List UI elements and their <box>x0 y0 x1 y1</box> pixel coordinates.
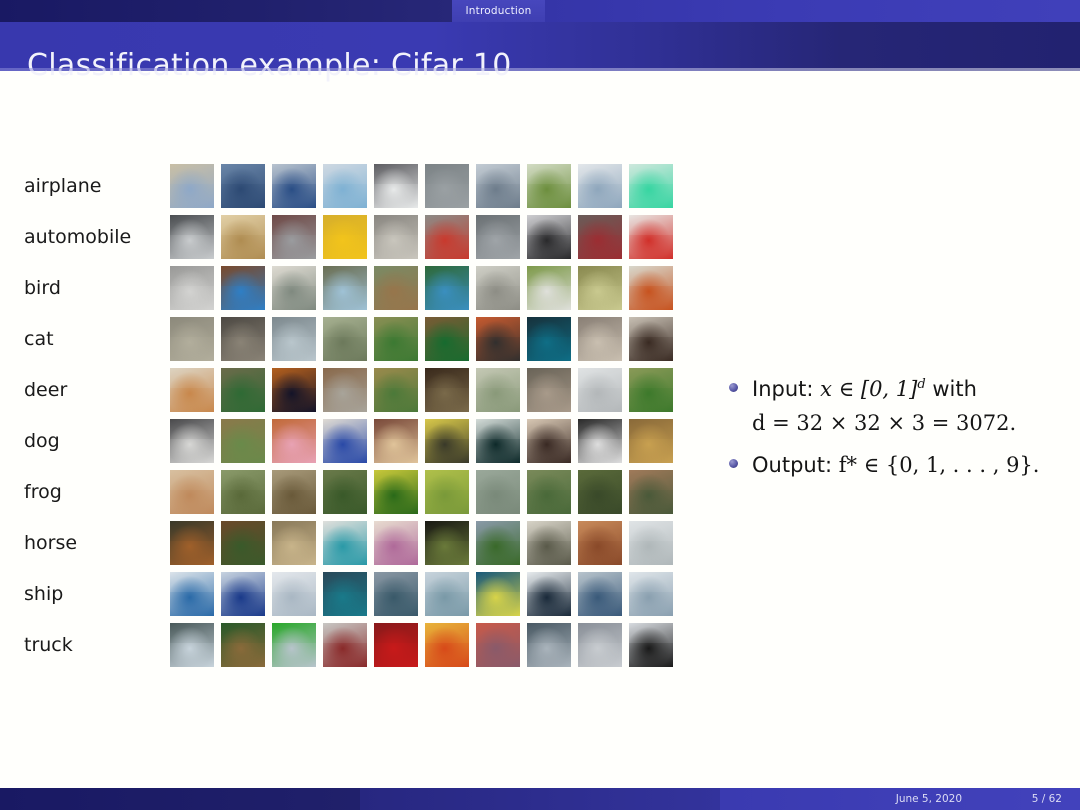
footer-segment-left <box>0 788 360 810</box>
class-label: automobile <box>24 226 131 248</box>
bullet-second-line: d = 32 × 32 × 3 = 3072. <box>752 408 1066 438</box>
sample-thumbnail <box>578 317 622 361</box>
sample-thumbnail <box>272 368 316 412</box>
sample-thumbnail <box>374 215 418 259</box>
sample-thumbnail <box>170 266 214 310</box>
sample-thumbnail <box>170 623 214 667</box>
sample-thumbnail <box>170 215 214 259</box>
footer-page-number: 5 / 62 <box>1032 793 1062 805</box>
sample-thumbnail <box>425 215 469 259</box>
sample-thumbnail <box>527 623 571 667</box>
sample-thumbnail <box>170 572 214 616</box>
sample-thumbnail <box>221 419 265 463</box>
grid-row: cat <box>0 313 700 364</box>
thumbnail-strip <box>170 317 673 361</box>
sample-thumbnail <box>170 419 214 463</box>
sample-thumbnail <box>272 572 316 616</box>
sample-thumbnail <box>578 623 622 667</box>
sample-thumbnail <box>374 419 418 463</box>
sample-thumbnail <box>527 419 571 463</box>
thumbnail-strip <box>170 164 673 208</box>
sample-thumbnail <box>527 164 571 208</box>
sample-thumbnail <box>272 215 316 259</box>
thumbnail-strip <box>170 521 673 565</box>
sample-thumbnail <box>425 164 469 208</box>
sample-thumbnail <box>629 521 673 565</box>
sample-thumbnail <box>323 266 367 310</box>
bullet-list: Input: x ∈ [0, 1]d with d = 32 × 32 × 3 … <box>726 374 1066 491</box>
class-label: bird <box>24 277 61 299</box>
sample-thumbnail <box>476 521 520 565</box>
sample-thumbnail <box>323 470 367 514</box>
sample-thumbnail <box>629 572 673 616</box>
sample-thumbnail <box>476 317 520 361</box>
class-label: deer <box>24 379 67 401</box>
thumbnail-strip <box>170 623 673 667</box>
sample-thumbnail <box>629 317 673 361</box>
sample-thumbnail <box>374 368 418 412</box>
bullet-math: f* ∈ {0, 1, . . . , 9}. <box>839 453 1040 477</box>
class-label: cat <box>24 328 54 350</box>
class-label: airplane <box>24 175 101 197</box>
sample-thumbnail <box>578 164 622 208</box>
sample-thumbnail <box>527 215 571 259</box>
footer-bar: June 5, 2020 5 / 62 <box>0 788 1080 810</box>
sample-thumbnail <box>323 521 367 565</box>
bullet-text: Output: f* ∈ {0, 1, . . . , 9}. <box>752 453 1039 477</box>
sample-thumbnail <box>374 572 418 616</box>
sample-thumbnail <box>323 164 367 208</box>
sample-thumbnail <box>170 470 214 514</box>
sample-thumbnail <box>425 623 469 667</box>
sample-thumbnail <box>272 623 316 667</box>
sample-thumbnail <box>221 368 265 412</box>
sample-thumbnail <box>374 266 418 310</box>
sample-thumbnail <box>527 317 571 361</box>
thumbnail-strip <box>170 470 673 514</box>
sample-thumbnail <box>323 368 367 412</box>
sample-thumbnail <box>578 215 622 259</box>
sample-thumbnail <box>629 164 673 208</box>
sample-thumbnail <box>374 470 418 514</box>
sample-thumbnail <box>170 521 214 565</box>
sample-thumbnail <box>629 623 673 667</box>
bullet-text: Input: x ∈ [0, 1]d with d = 32 × 32 × 3 … <box>752 377 1066 439</box>
grid-row: frog <box>0 466 700 517</box>
bullet-dot-icon <box>729 459 738 468</box>
sample-thumbnail <box>425 419 469 463</box>
bullet-label: Output: <box>752 453 832 477</box>
bullet-exponent: d <box>917 377 925 392</box>
class-label: truck <box>24 634 73 656</box>
sample-thumbnail <box>578 521 622 565</box>
sample-thumbnail <box>272 521 316 565</box>
thumbnail-strip <box>170 266 673 310</box>
slide-title-bar: Classification example: Cifar 10 <box>0 22 1080 71</box>
sample-thumbnail <box>374 164 418 208</box>
sample-thumbnail <box>272 419 316 463</box>
bullet-label: Input: <box>752 377 813 401</box>
sample-thumbnail <box>221 623 265 667</box>
nav-section-label: Introduction <box>466 5 532 17</box>
sample-thumbnail <box>629 368 673 412</box>
grid-row: dog <box>0 415 700 466</box>
grid-row: deer <box>0 364 700 415</box>
sample-thumbnail <box>374 623 418 667</box>
sample-thumbnail <box>221 317 265 361</box>
class-label: dog <box>24 430 60 452</box>
sample-thumbnail <box>527 521 571 565</box>
class-label: ship <box>24 583 63 605</box>
nav-segment-right <box>545 0 1080 22</box>
grid-row: airplane <box>0 160 700 211</box>
sample-thumbnail <box>170 317 214 361</box>
bullet-trailing: with <box>932 377 977 401</box>
sample-thumbnail <box>629 266 673 310</box>
sample-thumbnail <box>425 266 469 310</box>
nav-section-introduction[interactable]: Introduction <box>452 0 545 22</box>
sample-thumbnail <box>374 521 418 565</box>
sample-thumbnail <box>578 266 622 310</box>
sample-thumbnail <box>323 317 367 361</box>
class-label: horse <box>24 532 77 554</box>
sample-thumbnail <box>221 215 265 259</box>
thumbnail-strip <box>170 368 673 412</box>
sample-thumbnail <box>272 317 316 361</box>
sample-thumbnail <box>578 470 622 514</box>
sample-thumbnail <box>272 164 316 208</box>
sample-thumbnail <box>323 215 367 259</box>
sample-thumbnail <box>476 470 520 514</box>
sample-thumbnail <box>476 623 520 667</box>
sample-thumbnail <box>221 470 265 514</box>
sample-thumbnail <box>425 521 469 565</box>
grid-row: bird <box>0 262 700 313</box>
sample-thumbnail <box>629 419 673 463</box>
grid-row: truck <box>0 619 700 670</box>
sample-thumbnail <box>221 266 265 310</box>
sample-thumbnail <box>476 266 520 310</box>
sample-thumbnail <box>527 572 571 616</box>
sample-thumbnail <box>629 215 673 259</box>
sample-thumbnail <box>476 368 520 412</box>
sample-thumbnail <box>323 419 367 463</box>
grid-row: horse <box>0 517 700 568</box>
page-title: Classification example: Cifar 10 <box>27 48 512 83</box>
sample-thumbnail <box>527 470 571 514</box>
grid-row: automobile <box>0 211 700 262</box>
sample-thumbnail <box>425 368 469 412</box>
thumbnail-strip <box>170 572 673 616</box>
sample-thumbnail <box>578 368 622 412</box>
sample-thumbnail <box>425 317 469 361</box>
sample-thumbnail <box>476 215 520 259</box>
sample-thumbnail <box>425 470 469 514</box>
bullet-math: x ∈ [0, 1] <box>820 377 917 401</box>
sample-thumbnail <box>323 623 367 667</box>
sample-thumbnail <box>221 521 265 565</box>
thumbnail-strip <box>170 215 673 259</box>
sample-thumbnail <box>578 419 622 463</box>
sample-thumbnail <box>323 572 367 616</box>
sample-thumbnail <box>374 317 418 361</box>
navigation-bar: Introduction <box>0 0 1080 22</box>
sample-thumbnail <box>170 164 214 208</box>
cifar10-grid: airplaneautomobilebirdcatdeerdogfroghors… <box>0 160 700 680</box>
footer-date: June 5, 2020 <box>896 793 962 805</box>
thumbnail-strip <box>170 419 673 463</box>
sample-thumbnail <box>476 419 520 463</box>
grid-row: ship <box>0 568 700 619</box>
sample-thumbnail <box>221 164 265 208</box>
sample-thumbnail <box>272 470 316 514</box>
class-label: frog <box>24 481 62 503</box>
sample-thumbnail <box>527 266 571 310</box>
nav-segment-left <box>0 0 452 22</box>
list-item: Output: f* ∈ {0, 1, . . . , 9}. <box>726 450 1066 480</box>
list-item: Input: x ∈ [0, 1]d with d = 32 × 32 × 3 … <box>726 374 1066 439</box>
sample-thumbnail <box>272 266 316 310</box>
sample-thumbnail <box>170 368 214 412</box>
sample-thumbnail <box>221 572 265 616</box>
footer-segment-mid <box>360 788 720 810</box>
sample-thumbnail <box>629 470 673 514</box>
sample-thumbnail <box>425 572 469 616</box>
sample-thumbnail <box>476 572 520 616</box>
bullet-dot-icon <box>729 383 738 392</box>
sample-thumbnail <box>476 164 520 208</box>
sample-thumbnail <box>578 572 622 616</box>
sample-thumbnail <box>527 368 571 412</box>
